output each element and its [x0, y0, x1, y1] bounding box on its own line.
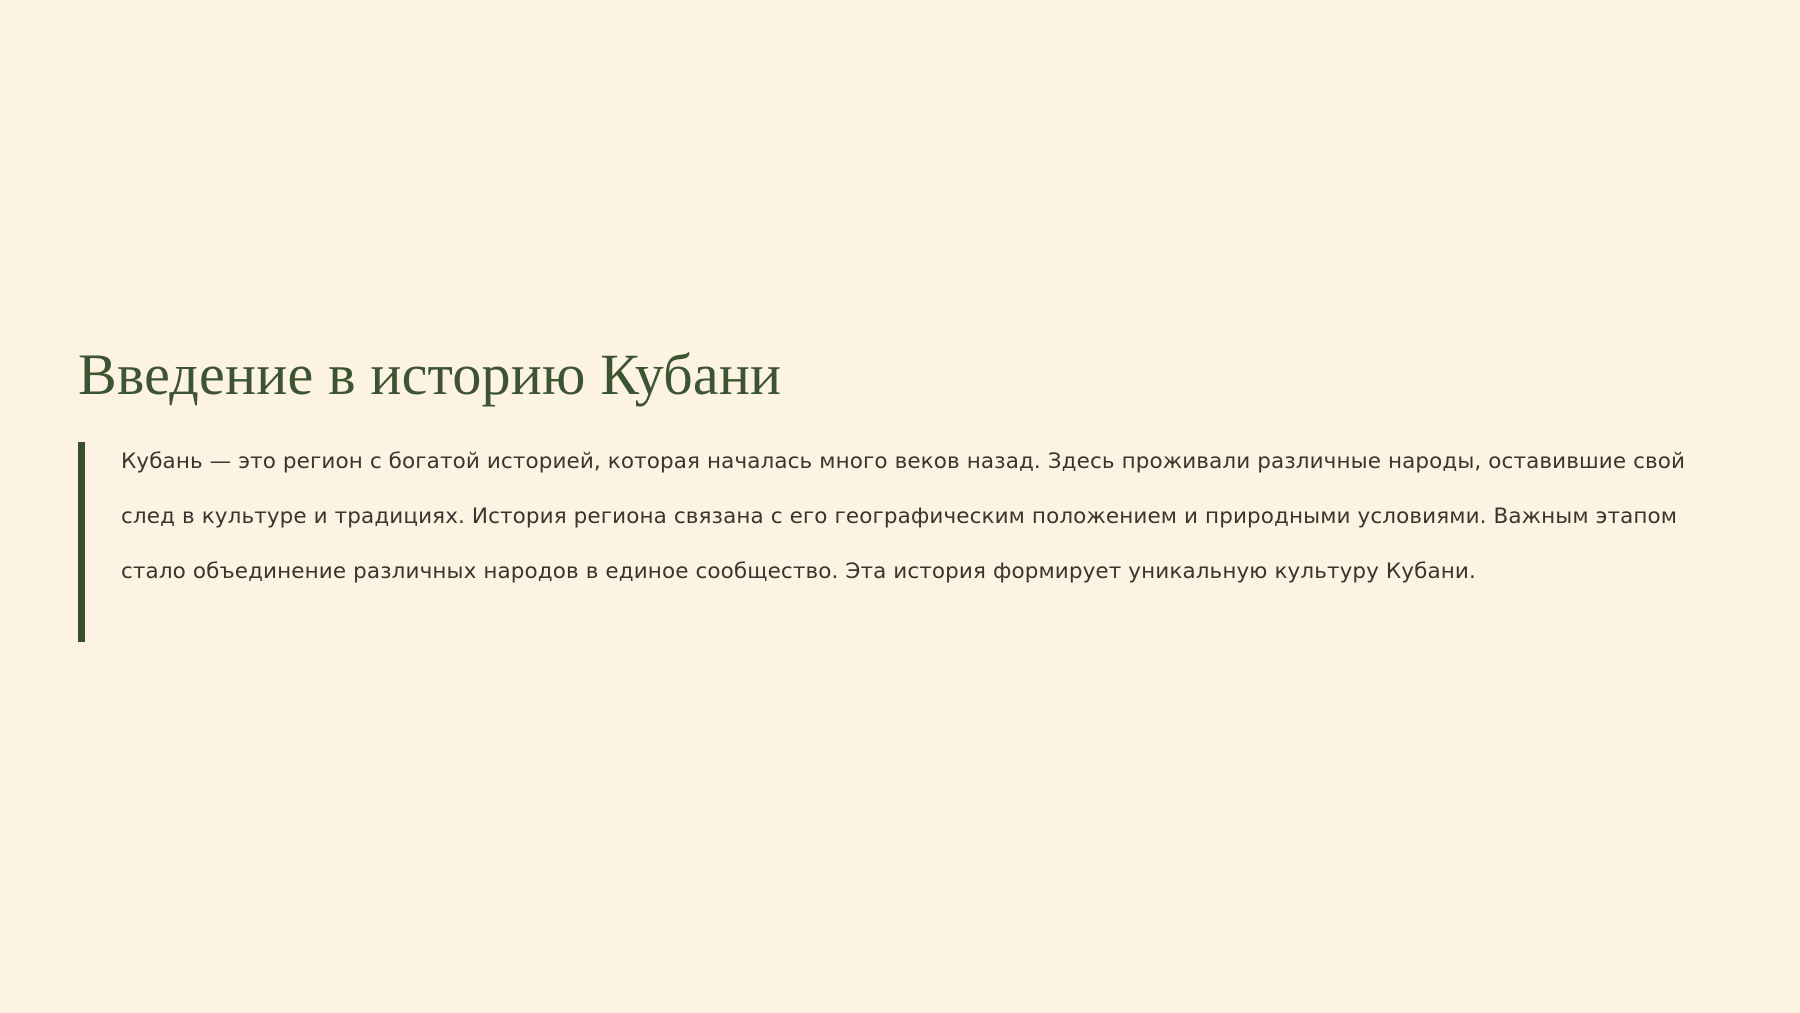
body-paragraph: Кубань — это регион с богатой историей, … — [121, 434, 1718, 599]
accent-bar — [78, 442, 85, 642]
content-area: Введение в историю Кубани Кубань — это р… — [78, 345, 1718, 599]
page-title: Введение в историю Кубани — [78, 345, 1718, 406]
quote-block: Кубань — это регион с богатой историей, … — [78, 434, 1718, 599]
slide-canvas: Введение в историю Кубани Кубань — это р… — [0, 0, 1800, 1013]
